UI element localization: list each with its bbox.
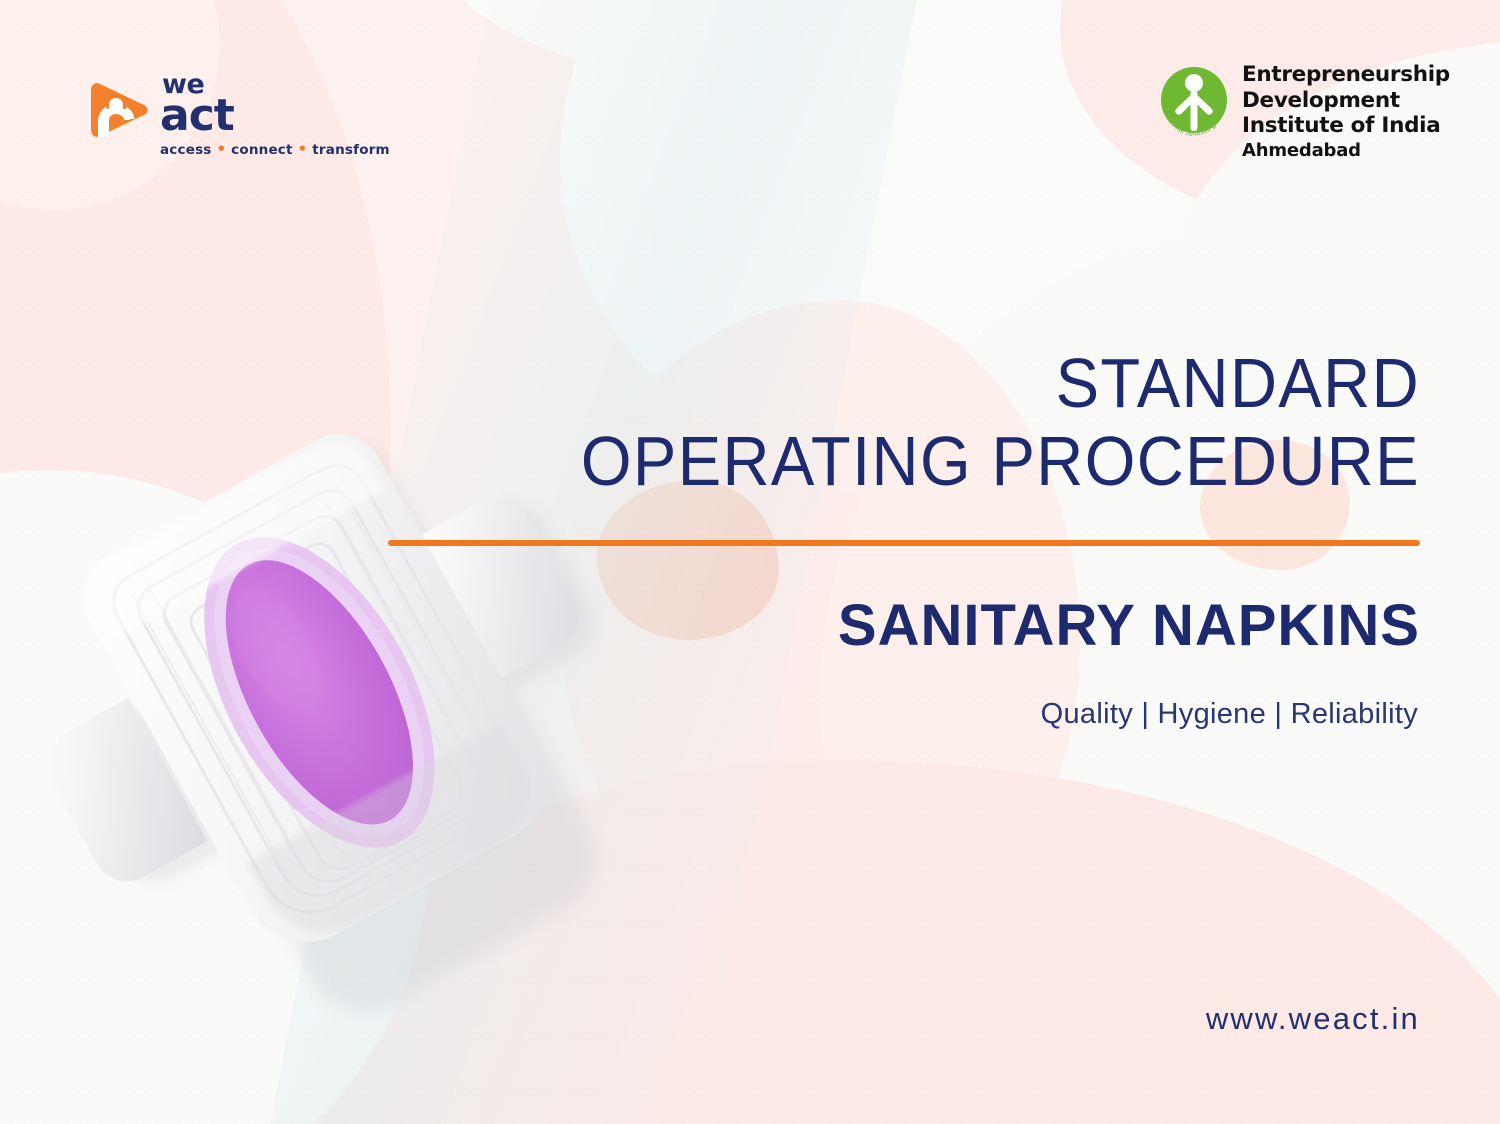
bullet-dot-icon-2: • [298,140,308,158]
weact-logo[interactable]: we act access • connect • transform [86,72,390,158]
weact-wordmark: we act access • connect • transform [160,72,390,158]
edii-circle-person-icon: आत्मनिर्भरता उद्यमशीलता द्वारा [1158,58,1230,150]
page-title-line-2: OPERATING PROCEDURE [453,422,1420,500]
page-title: STANDARD OPERATING PROCEDURE [380,344,1420,500]
edii-wordmark: Entrepreneurship Development Institute o… [1242,62,1450,162]
orange-divider [388,540,1420,546]
edii-line-2: Development [1242,88,1450,114]
weact-tagline-access: access [160,142,212,158]
page-tagline: Quality | Hygiene | Reliability [378,698,1418,731]
website-url[interactable]: www.weact.in [380,1001,1420,1037]
edii-line-1: Entrepreneurship [1242,62,1450,88]
edii-city: Ahmedabad [1242,140,1450,162]
weact-tagline: access • connect • transform [160,140,390,158]
weact-tagline-connect: connect [231,142,293,158]
page-subtitle: SANITARY NAPKINS [380,592,1420,660]
edii-logo[interactable]: आत्मनिर्भरता उद्यमशीलता द्वारा Entrepren… [1158,58,1450,162]
weact-act-text: act [160,96,390,136]
weact-tagline-transform: transform [312,142,390,158]
edii-line-3: Institute of India [1242,113,1450,139]
bullet-dot-icon-1: • [216,140,226,158]
weact-play-person-icon [86,78,150,142]
cover-page: we act access • connect • transform [0,0,1500,1124]
page-title-line-1: STANDARD [453,344,1420,422]
